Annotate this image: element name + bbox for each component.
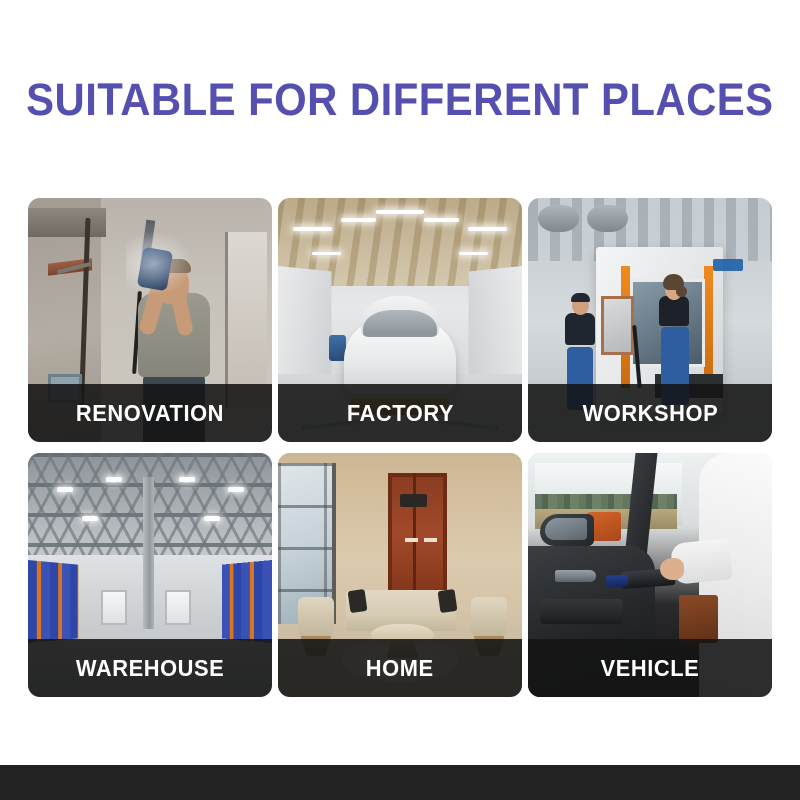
tile-label-renovation: RENOVATION — [76, 402, 224, 425]
suitable-places-page: SUITABLE FOR DIFFERENT PLACES — [0, 0, 800, 800]
tile-label-warehouse: WAREHOUSE — [76, 657, 224, 680]
home-label-band: HOME — [278, 639, 522, 697]
places-grid: RENOVATION — [28, 198, 772, 697]
warehouse-label-band: WAREHOUSE — [28, 639, 272, 697]
factory-label-band: FACTORY — [278, 384, 522, 442]
tile-renovation[interactable]: RENOVATION — [28, 198, 272, 442]
workshop-label-band: WORKSHOP — [528, 384, 772, 442]
tile-vehicle[interactable]: VEHICLE — [528, 453, 772, 697]
page-title-area: SUITABLE FOR DIFFERENT PLACES — [0, 0, 800, 198]
tile-home[interactable]: HOME — [278, 453, 522, 697]
vehicle-label-band: VEHICLE — [528, 639, 772, 697]
tile-warehouse[interactable]: WAREHOUSE — [28, 453, 272, 697]
tile-factory[interactable]: FACTORY — [278, 198, 522, 442]
tile-workshop[interactable]: WORKSHOP — [528, 198, 772, 442]
tile-label-workshop: WORKSHOP — [582, 402, 718, 425]
footer-bar — [0, 765, 800, 800]
tile-label-vehicle: VEHICLE — [601, 657, 700, 680]
tile-label-home: HOME — [366, 657, 434, 680]
renovation-label-band: RENOVATION — [28, 384, 272, 442]
tile-label-factory: FACTORY — [346, 402, 453, 425]
page-title: SUITABLE FOR DIFFERENT PLACES — [26, 77, 773, 122]
